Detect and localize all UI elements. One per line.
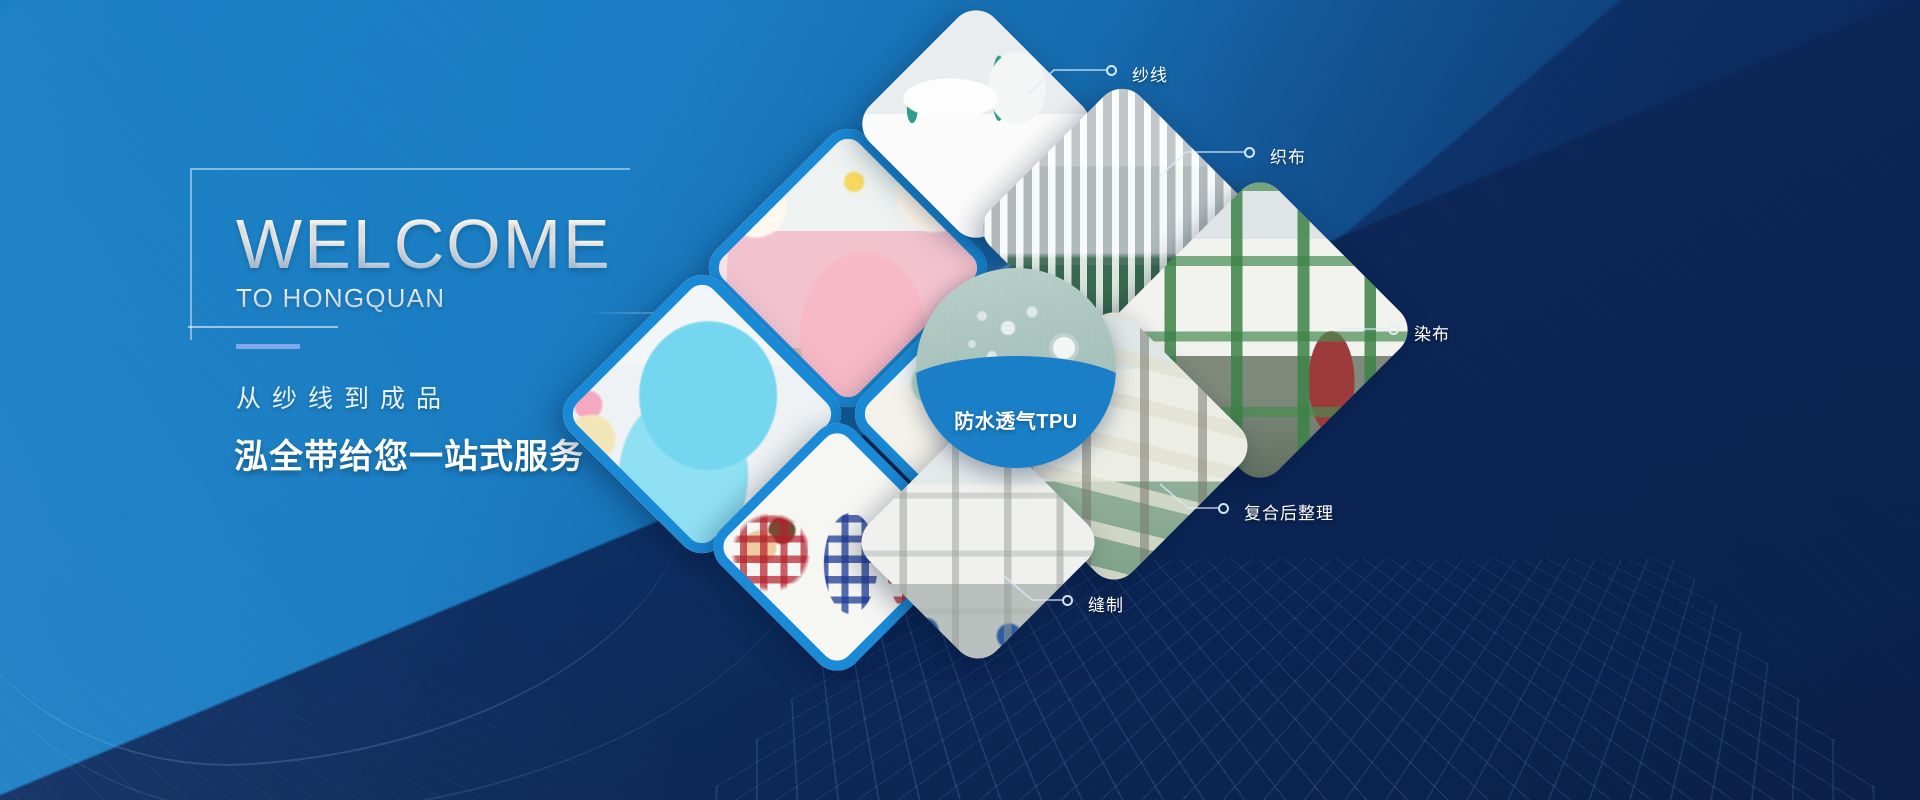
callout-dot-icon (1062, 595, 1073, 606)
callout-dot-icon (1388, 324, 1399, 335)
process-label-dyeing: 染布 (1414, 320, 1450, 345)
process-label-weaving: 织布 (1270, 143, 1306, 168)
process-label-finishing: 复合后整理 (1244, 499, 1334, 524)
badge-label: 防水透气TPU (916, 405, 1116, 434)
callout-dot-icon (1218, 503, 1229, 514)
callout-dot-icon (1106, 65, 1117, 76)
hero-banner: WELCOME TO HONGQUAN 从纱线到成品 泓全带给您一站式服务 防水… (0, 0, 1920, 800)
accent-divider (236, 344, 300, 349)
waterproof-tpu-badge[interactable]: 防水透气TPU (916, 268, 1116, 468)
callout-dot-icon (1244, 147, 1255, 158)
process-label-sewing: 缝制 (1088, 591, 1124, 616)
process-label-yarn: 纱线 (1132, 61, 1168, 86)
bottom-divider (188, 326, 338, 328)
